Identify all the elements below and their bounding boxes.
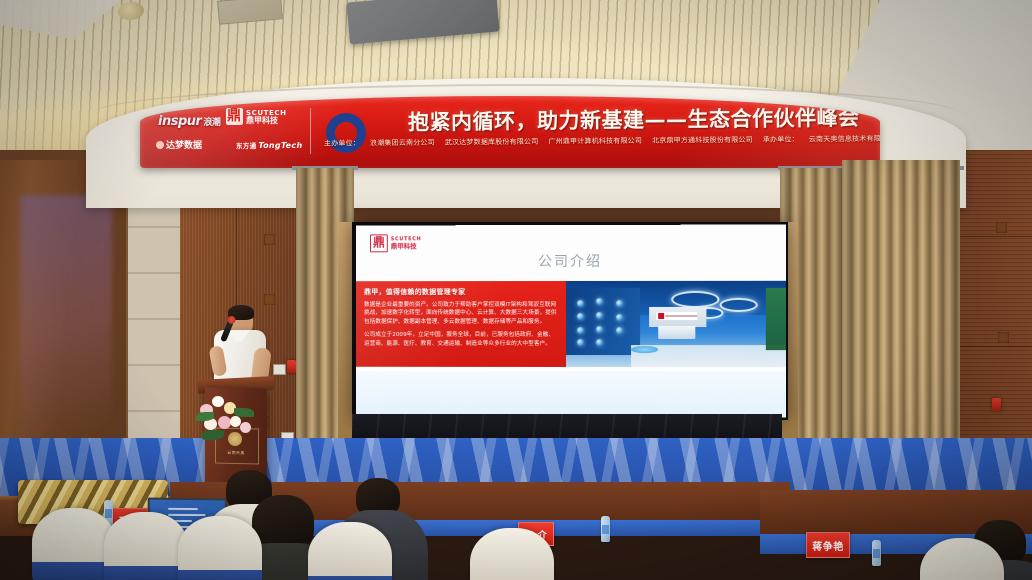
chair-sash <box>104 566 188 580</box>
photo-light-dot-icon <box>596 339 603 346</box>
door-stud <box>264 294 275 305</box>
light-switch-icon[interactable] <box>273 364 286 375</box>
slide-logo-cn: 鼎甲科技 <box>391 243 422 250</box>
dameng-dot-icon <box>156 141 164 149</box>
water-bottle <box>872 540 881 566</box>
slide-logo-text: SCUTECH 鼎甲科技 <box>391 236 422 250</box>
wall-stud <box>998 332 1009 343</box>
chair <box>308 522 392 580</box>
foliage <box>196 412 214 421</box>
callout-heading: 鼎甲，值得信赖的数据管理专家 <box>364 287 558 297</box>
photo-plant-icon <box>766 288 786 350</box>
dameng-logo: 达梦数据 <box>156 138 202 151</box>
chair <box>178 516 262 580</box>
scutech-logo-cn: 鼎甲科技 <box>246 117 287 125</box>
wall-stud <box>996 222 1007 233</box>
tongtech-logo-text: TongTech <box>258 141 302 150</box>
inspur-logo: inspur浪潮 <box>158 114 220 129</box>
photo-light-dot-icon <box>577 300 584 307</box>
podium-plate-text: 云南天奥 <box>211 449 261 455</box>
chair <box>104 512 188 580</box>
slide-body: 鼎甲，值得信赖的数据管理专家 数据是企业最重要的资产。公司致力于帮助客户掌控双模… <box>356 281 786 367</box>
slide-logo-mark-icon <box>370 234 388 252</box>
scutech-mark-icon <box>226 108 243 125</box>
slide-scutech-logo: SCUTECH 鼎甲科技 <box>370 234 421 252</box>
water-bottle <box>601 516 610 542</box>
slide-title: 公司介绍 <box>356 251 786 272</box>
event-banner: inspur浪潮 SCUTECH 鼎甲科技 达梦数据 东方通TongTech 抱… <box>140 96 880 168</box>
dameng-logo-text: 达梦数据 <box>166 141 202 151</box>
photo-light-dot-icon <box>616 314 623 321</box>
photo-reception-desk <box>658 326 695 340</box>
flower <box>218 416 231 429</box>
photo-floor-pod <box>632 346 658 354</box>
name-card: 蒋争艳 <box>806 532 850 558</box>
photo-company-sign <box>656 312 698 320</box>
slide-header: SCUTECH 鼎甲科技 公司介绍 <box>356 225 786 288</box>
acoustic-panel-column-left <box>126 182 184 482</box>
fire-alarm-icon <box>287 360 296 373</box>
host-3: 广州鼎甲计算机科技有限公司 <box>548 137 642 146</box>
laptop-text-line <box>168 514 206 516</box>
scutech-logo-text: SCUTECH 鼎甲科技 <box>246 109 287 125</box>
chair-sash <box>178 570 262 580</box>
door-stud <box>264 234 275 245</box>
photo-light-dot-icon <box>577 327 584 334</box>
callout-paragraph-2: 公司成立于2009年，立足中国，服务全球，目前，已服务包括政府、金融、运营商、能… <box>364 331 558 348</box>
foliage <box>234 408 254 417</box>
flower <box>212 396 224 407</box>
flower <box>240 422 251 433</box>
slide-callout-block: 鼎甲，值得信赖的数据管理专家 数据是企业最重要的资产。公司致力于帮助客户掌控双模… <box>356 281 566 367</box>
slide-photo <box>566 281 786 367</box>
photo-sign-mark-icon <box>658 313 664 319</box>
inspur-logo-cn: 浪潮 <box>203 118 220 128</box>
inspur-logo-text: inspur <box>158 114 201 129</box>
laptop-text-line <box>168 508 198 510</box>
flower-arrangement <box>196 386 260 442</box>
conference-hall-photo: inspur浪潮 SCUTECH 鼎甲科技 达梦数据 东方通TongTech 抱… <box>0 0 1032 580</box>
fire-alarm-icon <box>992 398 1001 411</box>
host-2: 武汉达梦数据库股份有限公司 <box>445 138 539 147</box>
organizer-label: 承办单位： <box>763 135 799 143</box>
tongtech-logo: 东方通TongTech <box>236 140 302 150</box>
photo-led-wall <box>566 288 641 355</box>
host-4: 北京鼎甲方通科技股份有限公司 <box>652 136 753 145</box>
organizer-1: 云南天奥信息技术有限公司 <box>809 135 880 144</box>
photo-light-dot-icon <box>616 300 623 307</box>
presentation-slide: SCUTECH 鼎甲科技 公司介绍 鼎甲，值得信赖的数据管理专家 数据是企业最重… <box>356 225 786 418</box>
foliage <box>202 430 224 440</box>
photo-light-dot-icon <box>577 313 584 320</box>
led-screen[interactable]: SCUTECH 鼎甲科技 公司介绍 鼎甲，值得信赖的数据管理专家 数据是企业最重… <box>352 222 788 420</box>
chair-sash <box>308 576 392 580</box>
tongtech-logo-cn: 东方通 <box>236 142 256 150</box>
host-label: 主办单位： <box>324 139 360 147</box>
photo-sign-text <box>665 315 698 317</box>
banner-divider <box>310 108 311 154</box>
host-1: 浪潮集团云南分公司 <box>370 139 435 148</box>
callout-paragraph-1: 数据是企业最重要的资产。公司致力于帮助客户掌控双模IT架构和驾驭互联网挑战，加速… <box>364 301 558 326</box>
slide-footer <box>356 371 786 418</box>
banner-title: 抱紧内循环，助力新基建——生态合作伙伴峰会 <box>408 102 878 137</box>
scutech-logo: SCUTECH 鼎甲科技 <box>226 106 287 125</box>
